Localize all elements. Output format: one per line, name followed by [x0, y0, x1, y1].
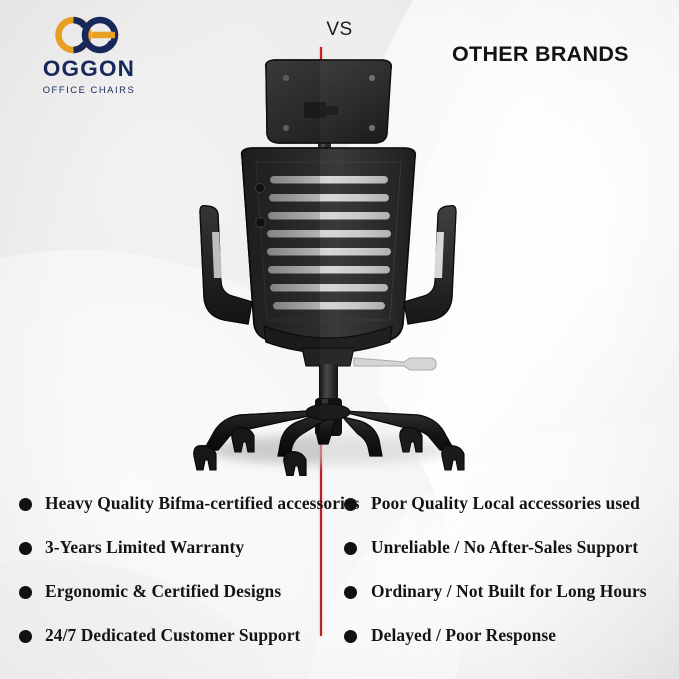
list-item: Ergonomic & Certified Designs	[8, 581, 320, 625]
bullet-icon	[344, 498, 357, 511]
list-item: 24/7 Dedicated Customer Support	[8, 625, 320, 669]
office-chair-illustration	[178, 58, 478, 476]
list-item: Unreliable / No After-Sales Support	[332, 537, 676, 581]
other-brands-title: OTHER BRANDS	[452, 42, 629, 67]
bullet-icon	[344, 542, 357, 555]
bullet-icon	[19, 542, 32, 555]
comparison-infographic: OGGON OFFICE CHAIRS VS OTHER BRANDS	[0, 0, 679, 679]
feature-label: Ordinary / Not Built for Long Hours	[371, 581, 647, 602]
list-item: Poor Quality Local accessories used	[332, 493, 676, 537]
feature-label: Delayed / Poor Response	[371, 625, 556, 646]
feature-label: Unreliable / No After-Sales Support	[371, 537, 638, 558]
bullet-icon	[19, 630, 32, 643]
bullet-icon	[344, 630, 357, 643]
feature-label: Heavy Quality Bifma-certified accessorie…	[45, 493, 360, 514]
bullet-icon	[344, 586, 357, 599]
feature-label: 24/7 Dedicated Customer Support	[45, 625, 300, 646]
feature-label: 3-Years Limited Warranty	[45, 537, 244, 558]
list-item: Heavy Quality Bifma-certified accessorie…	[8, 493, 320, 537]
list-item: Ordinary / Not Built for Long Hours	[332, 581, 676, 625]
bullet-icon	[19, 498, 32, 511]
other-brands-feature-list: Poor Quality Local accessories used Unre…	[332, 493, 676, 669]
oggon-feature-list: Heavy Quality Bifma-certified accessorie…	[8, 493, 320, 669]
brand-name: OGGON	[14, 57, 164, 81]
feature-label: Ergonomic & Certified Designs	[45, 581, 281, 602]
feature-label: Poor Quality Local accessories used	[371, 493, 640, 514]
list-item: 3-Years Limited Warranty	[8, 537, 320, 581]
bullet-icon	[19, 586, 32, 599]
brand-tagline: OFFICE CHAIRS	[14, 84, 164, 95]
vs-label: VS	[0, 19, 679, 41]
office-chair-image	[178, 58, 478, 476]
list-item: Delayed / Poor Response	[332, 625, 676, 669]
